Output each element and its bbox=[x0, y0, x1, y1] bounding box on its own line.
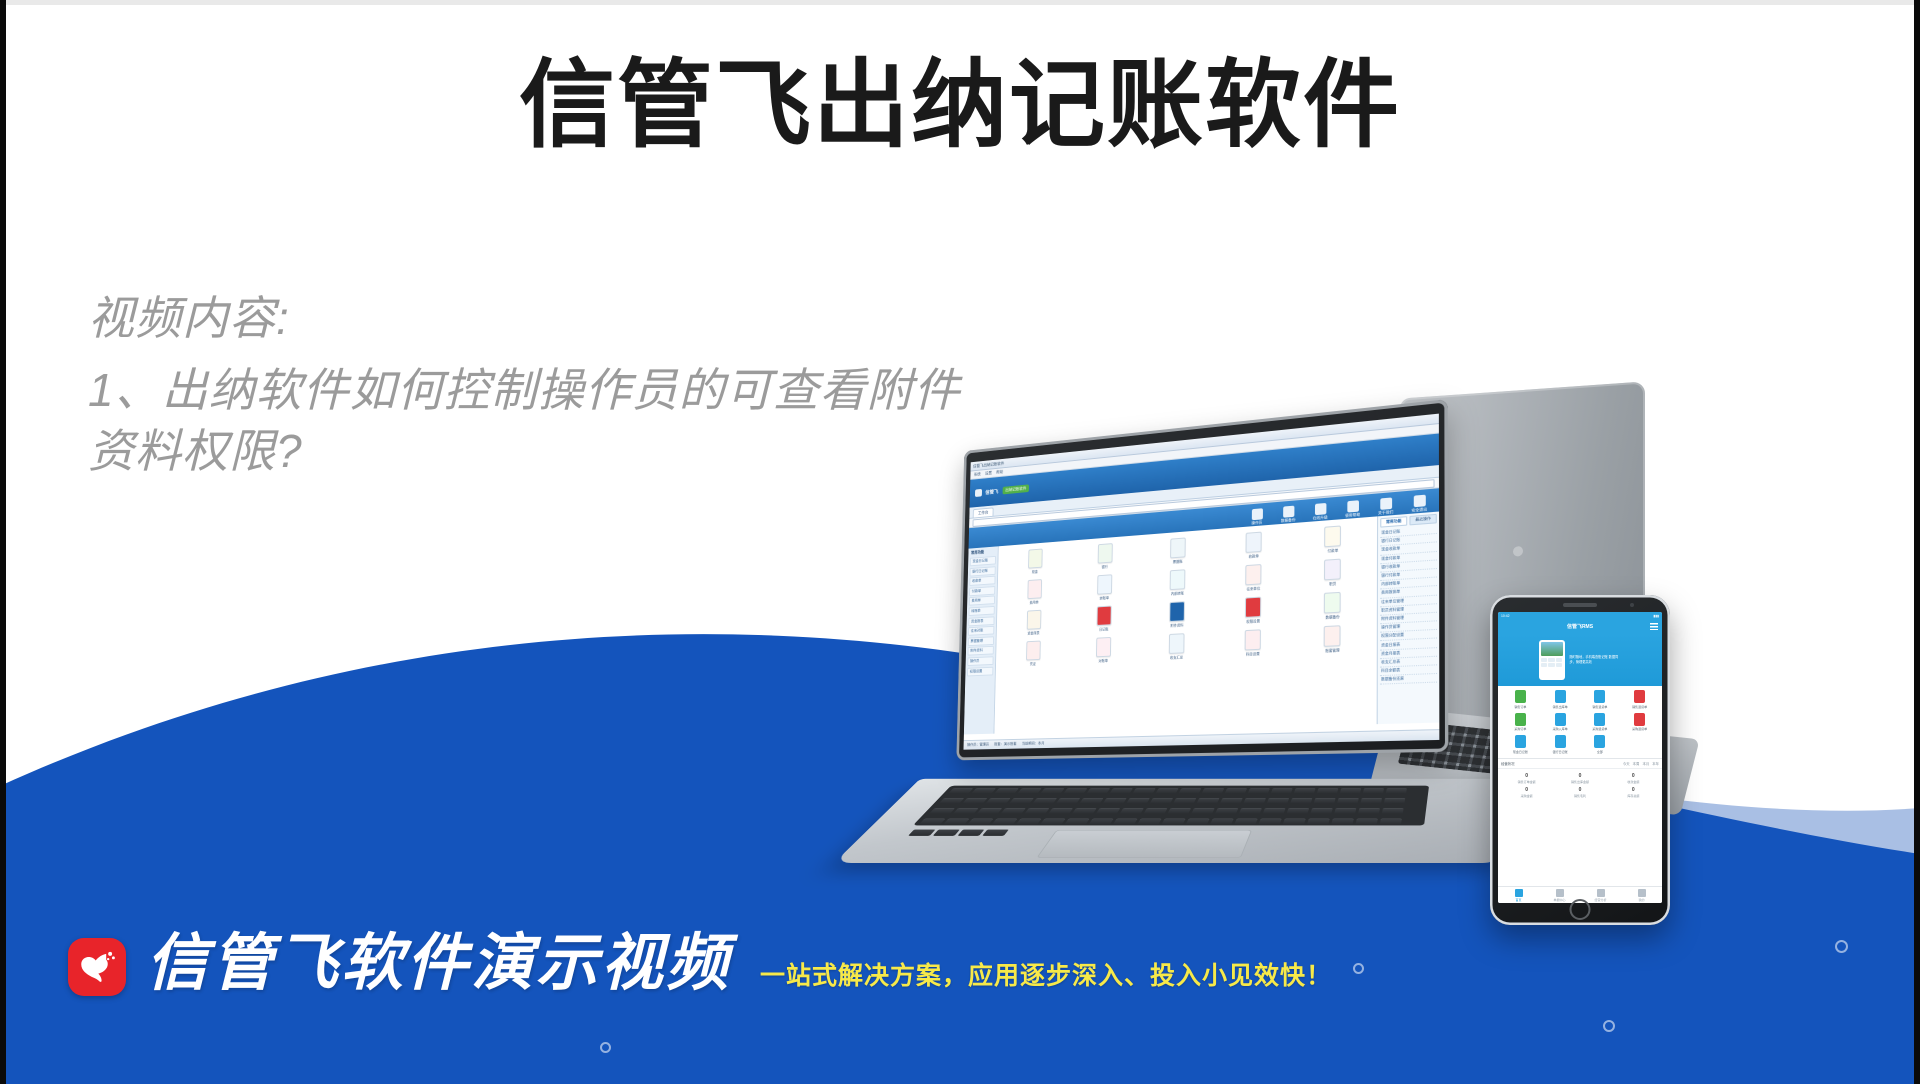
grid-item-icon bbox=[1324, 559, 1341, 581]
phone-grid-icon bbox=[1594, 690, 1605, 703]
grid-item-13[interactable]: 权限设置 bbox=[1216, 595, 1292, 626]
phone-app-title: 信管飞RMS bbox=[1567, 623, 1593, 630]
grid-item-icon bbox=[1026, 641, 1041, 661]
grid-item-icon bbox=[1324, 625, 1341, 647]
phone-grid-item-5[interactable]: 采购入库单 bbox=[1541, 713, 1580, 732]
grid-item-7[interactable]: 内部转账 bbox=[1141, 567, 1214, 598]
grid-item-icon bbox=[1324, 592, 1341, 614]
laptop-screen: 信管飞出纳记账软件 系统设置帮助 信管飞 出纳记账软件 工作台 bbox=[964, 414, 1440, 750]
left-edge-border bbox=[0, 0, 6, 1084]
device-mockup-group: 信管飞出纳记账软件 系统设置帮助 信管飞 出纳记账软件 工作台 bbox=[880, 390, 1890, 950]
grid-item-3[interactable]: 收款单 bbox=[1216, 529, 1292, 561]
banner-device-photo bbox=[1541, 642, 1563, 656]
phone-grid-icon bbox=[1594, 713, 1605, 726]
toolbar-exit-icon[interactable]: 安全退出 bbox=[1408, 494, 1430, 514]
phone-status-bar: 10:42 ▮▮▮ bbox=[1498, 612, 1662, 619]
phone-screen: 10:42 ▮▮▮ 信管飞RMS 随时随地，手机端查账记账 数据同步，管理更高效 bbox=[1498, 612, 1662, 903]
front-laptop-lid: 信管飞出纳记账软件 系统设置帮助 信管飞 出纳记账软件 工作台 bbox=[956, 399, 1448, 760]
stats-cell-2: 0收款金额 bbox=[1607, 773, 1660, 784]
menu-item-1[interactable]: 设置 bbox=[985, 470, 992, 476]
app-brand-badge: 出纳记账软件 bbox=[1003, 484, 1029, 494]
phone-status-time: 10:42 bbox=[1501, 614, 1510, 618]
grid-item-icon bbox=[1097, 543, 1112, 564]
toolbar-upload-icon[interactable]: 在线升级 bbox=[1310, 502, 1331, 521]
phone-stats-period-switch[interactable]: 今天本周本月本年 bbox=[1620, 761, 1659, 766]
menu-item-0[interactable]: 系统 bbox=[974, 471, 981, 477]
right-panel-item-17[interactable]: 数据备份还原 bbox=[1380, 674, 1437, 685]
stats-cell-0: 0销售订单金额 bbox=[1500, 773, 1553, 784]
grid-item-14[interactable]: 数据备份 bbox=[1293, 590, 1372, 622]
stats-cell-3: 0采购金额 bbox=[1500, 787, 1553, 798]
phone-grid-icon bbox=[1515, 690, 1526, 703]
grid-item-icon bbox=[1096, 637, 1111, 657]
grid-item-16[interactable]: 对账单 bbox=[1068, 636, 1138, 665]
phone-status-icons: ▮▮▮ bbox=[1653, 614, 1659, 618]
phone-grid-icon bbox=[1634, 690, 1645, 703]
phone-grid-item-6[interactable]: 采购退货单 bbox=[1581, 713, 1620, 732]
banner-device-rows bbox=[1541, 658, 1563, 667]
front-laptop-trackpad bbox=[1036, 830, 1252, 858]
footer-bar: 信管飞软件演示视频 一站式解决方案，应用逐步深入、投入小见效快！ bbox=[0, 894, 1920, 1084]
phone-grid-item-3[interactable]: 销售退货单 bbox=[1620, 690, 1659, 709]
grid-item-icon bbox=[1026, 610, 1041, 630]
database-icon bbox=[1283, 505, 1294, 517]
grid-item-19[interactable]: 账套管理 bbox=[1293, 624, 1372, 655]
left-nav-item-11[interactable]: 权限设置 bbox=[967, 666, 993, 676]
grid-item-1[interactable]: 银行 bbox=[1070, 541, 1140, 571]
app-brand-name: 信管飞 bbox=[985, 488, 998, 496]
phone-stats-header: 经营状况 今天本周本月本年 bbox=[1498, 759, 1662, 769]
phone-banner: 随时随地，手机端查账记账 数据同步，管理更高效 bbox=[1498, 634, 1662, 686]
slide-canvas: 信管飞出纳记账软件 视频内容: 1、出纳软件如何控制操作员的可查看附件 资料权限… bbox=[0, 0, 1920, 1084]
grid-item-15[interactable]: 凭证 bbox=[999, 639, 1067, 667]
footer-tagline: 一站式解决方案，应用逐步深入、投入小见效快！ bbox=[760, 956, 1332, 992]
exit-icon bbox=[1413, 494, 1425, 507]
left-nav-title: 常用功能 bbox=[971, 549, 996, 556]
front-laptop-keyboard bbox=[913, 786, 1429, 826]
stats-cell-1: 0销售出库金额 bbox=[1553, 773, 1606, 784]
phone-grid-item-7[interactable]: 采购退货单 bbox=[1620, 713, 1659, 732]
grid-item-icon bbox=[1097, 574, 1112, 594]
phone-grid-icon bbox=[1594, 735, 1605, 748]
app-icon-grid[interactable]: 现金银行票据账收款单付款单费用单转账单内部转账往来单位职员资金报表日记账附件资料… bbox=[994, 516, 1377, 733]
grid-item-6[interactable]: 转账单 bbox=[1070, 572, 1140, 602]
phone-speaker bbox=[1563, 603, 1597, 607]
phone-grid-item-0[interactable]: 销售订单 bbox=[1501, 690, 1540, 709]
phone-camera-icon bbox=[1630, 603, 1634, 607]
upload-icon bbox=[1314, 502, 1325, 514]
video-content-label: 视频内容: bbox=[88, 288, 1108, 350]
front-laptop-base bbox=[834, 779, 1500, 863]
grid-item-icon bbox=[1325, 525, 1342, 547]
banner-device-illustration bbox=[1539, 640, 1565, 680]
left-nav-item-0[interactable]: 现金日记账 bbox=[970, 556, 996, 566]
grid-item-8[interactable]: 往来单位 bbox=[1216, 562, 1292, 593]
banner-text: 随时随地，手机端查账记账 数据同步，管理更高效 bbox=[1570, 655, 1622, 665]
left-nav-item-1[interactable]: 银行日记账 bbox=[970, 566, 996, 576]
right-edge-border bbox=[1914, 0, 1920, 1084]
menu-item-2[interactable]: 帮助 bbox=[996, 469, 1003, 475]
left-nav-item-9[interactable]: 附件资料 bbox=[968, 646, 994, 656]
app-logo-icon bbox=[975, 489, 982, 497]
grid-item-icon bbox=[1028, 549, 1043, 569]
left-nav-item-8[interactable]: 票据管理 bbox=[968, 636, 994, 646]
phone-grid-item-9[interactable]: 银行日记账 bbox=[1541, 735, 1580, 754]
left-nav-item-6[interactable]: 资金报表 bbox=[968, 616, 994, 626]
top-edge-line bbox=[0, 0, 1920, 5]
stats-period-3[interactable]: 本年 bbox=[1652, 762, 1659, 766]
left-nav-item-7[interactable]: 往来对账 bbox=[968, 626, 994, 636]
xinguanfei-bird-logo-icon bbox=[68, 938, 126, 996]
grid-item-icon bbox=[1246, 532, 1262, 553]
left-nav-item-2[interactable]: 收款单 bbox=[969, 576, 995, 586]
grid-item-icon bbox=[1170, 537, 1186, 558]
grid-item-17[interactable]: 收支汇总 bbox=[1140, 632, 1213, 662]
phone-grid-icon bbox=[1555, 690, 1566, 703]
grid-item-10[interactable]: 资金报表 bbox=[1000, 608, 1068, 637]
grid-item-icon bbox=[1170, 569, 1186, 590]
phone-grid-icon bbox=[1634, 713, 1645, 726]
grid-item-icon bbox=[1245, 629, 1261, 650]
phone-grid-item-4[interactable]: 采购订单 bbox=[1501, 713, 1540, 732]
stats-cell-4: 0销售毛利 bbox=[1553, 787, 1606, 798]
app-main-area: 常用功能 现金日记账银行日记账收款单付款单费用单转账单资金报表往来对账票据管理附… bbox=[964, 512, 1439, 735]
hamburger-icon[interactable] bbox=[1650, 623, 1658, 630]
grid-item-4[interactable]: 付款单 bbox=[1294, 523, 1373, 556]
stats-period-1[interactable]: 本周 bbox=[1633, 762, 1640, 766]
toolbar-help-icon[interactable]: 使用帮助 bbox=[1342, 499, 1363, 518]
footer-brand-title: 信管飞软件演示视频 bbox=[146, 912, 731, 1002]
toolbar-info-icon[interactable]: 关于我们 bbox=[1375, 497, 1397, 516]
app-right-panel[interactable]: 常用功能最近操作现金日记账银行日记账现金收款单现金付款单银行收款单银行付款单内部… bbox=[1377, 512, 1440, 725]
phone-grid-item-8[interactable]: 现金日记账 bbox=[1501, 735, 1540, 754]
status-field-2: 当前期间：本月 bbox=[1022, 741, 1045, 746]
grid-item-11[interactable]: 日记账 bbox=[1069, 604, 1139, 633]
phone-stats-section: 经营状况 今天本周本月本年 0销售订单金额0销售出库金额0收款金额0采购金额0销… bbox=[1498, 758, 1662, 802]
user-icon bbox=[1251, 508, 1262, 520]
grid-item-icon bbox=[1096, 606, 1111, 626]
grid-item-icon bbox=[1245, 597, 1261, 618]
grid-item-icon bbox=[1169, 601, 1185, 622]
grid-item-icon bbox=[1245, 564, 1261, 585]
app-left-nav[interactable]: 常用功能 现金日记账银行日记账收款单付款单费用单转账单资金报表往来对账票据管理附… bbox=[964, 546, 999, 734]
left-nav-item-4[interactable]: 费用单 bbox=[969, 596, 995, 606]
grid-item-9[interactable]: 职员 bbox=[1294, 556, 1373, 588]
stats-cell-5: 0库存总额 bbox=[1607, 787, 1660, 798]
grid-item-2[interactable]: 票据账 bbox=[1142, 535, 1215, 566]
phone-app-header: 信管飞RMS bbox=[1498, 619, 1662, 634]
grid-item-0[interactable]: 现金 bbox=[1002, 546, 1069, 576]
grid-item-12[interactable]: 附件资料 bbox=[1141, 599, 1214, 629]
stats-period-0[interactable]: 今天 bbox=[1623, 762, 1630, 766]
front-laptop: 信管飞出纳记账软件 系统设置帮助 信管飞 出纳记账软件 工作台 bbox=[880, 425, 1520, 895]
left-nav-item-3[interactable]: 付款单 bbox=[969, 586, 995, 596]
page-title: 信管飞出纳记账软件 bbox=[0, 52, 1920, 160]
phone-icon-grid[interactable]: 销售订单销售出库单销售退货单销售退货单采购订单采购入库单采购退货单采购退货单现金… bbox=[1498, 686, 1662, 758]
grid-item-18[interactable]: 科目设置 bbox=[1215, 628, 1291, 658]
phone-grid-item-10[interactable]: 全部 bbox=[1581, 735, 1620, 754]
toolbar-user-icon[interactable]: 操作员 bbox=[1247, 507, 1267, 526]
phone-mockup: 10:42 ▮▮▮ 信管飞RMS 随时随地，手机端查账记账 数据同步，管理更高效 bbox=[1490, 595, 1670, 925]
desktop-app-window: 信管飞出纳记账软件 系统设置帮助 信管飞 出纳记账软件 工作台 bbox=[964, 414, 1440, 750]
stats-period-2[interactable]: 本月 bbox=[1642, 762, 1649, 766]
left-nav-item-5[interactable]: 转账单 bbox=[969, 606, 995, 616]
phone-grid-icon bbox=[1555, 735, 1566, 748]
toolbar-database-icon[interactable]: 数据备份 bbox=[1278, 505, 1299, 524]
grid-item-5[interactable]: 费用单 bbox=[1001, 577, 1069, 606]
phone-grid-icon bbox=[1515, 735, 1526, 748]
phone-stats-title: 经营状况 bbox=[1501, 761, 1515, 766]
phone-grid-item-1[interactable]: 销售出库单 bbox=[1541, 690, 1580, 709]
grid-item-icon bbox=[1169, 633, 1185, 654]
info-icon bbox=[1380, 497, 1392, 509]
grid-item-icon bbox=[1027, 579, 1042, 599]
help-icon bbox=[1347, 500, 1359, 512]
status-field-0: 操作员：管理员 bbox=[967, 742, 989, 747]
phone-grid-item-2[interactable]: 销售退货单 bbox=[1581, 690, 1620, 709]
left-nav-item-10[interactable]: 操作员 bbox=[967, 656, 993, 666]
status-field-1: 账套：演示账套 bbox=[994, 742, 1016, 747]
phone-grid-icon bbox=[1555, 713, 1566, 726]
phone-grid-icon bbox=[1515, 713, 1526, 726]
phone-stats-body: 0销售订单金额0销售出库金额0收款金额0采购金额0销售毛利0库存总额 bbox=[1498, 769, 1662, 802]
